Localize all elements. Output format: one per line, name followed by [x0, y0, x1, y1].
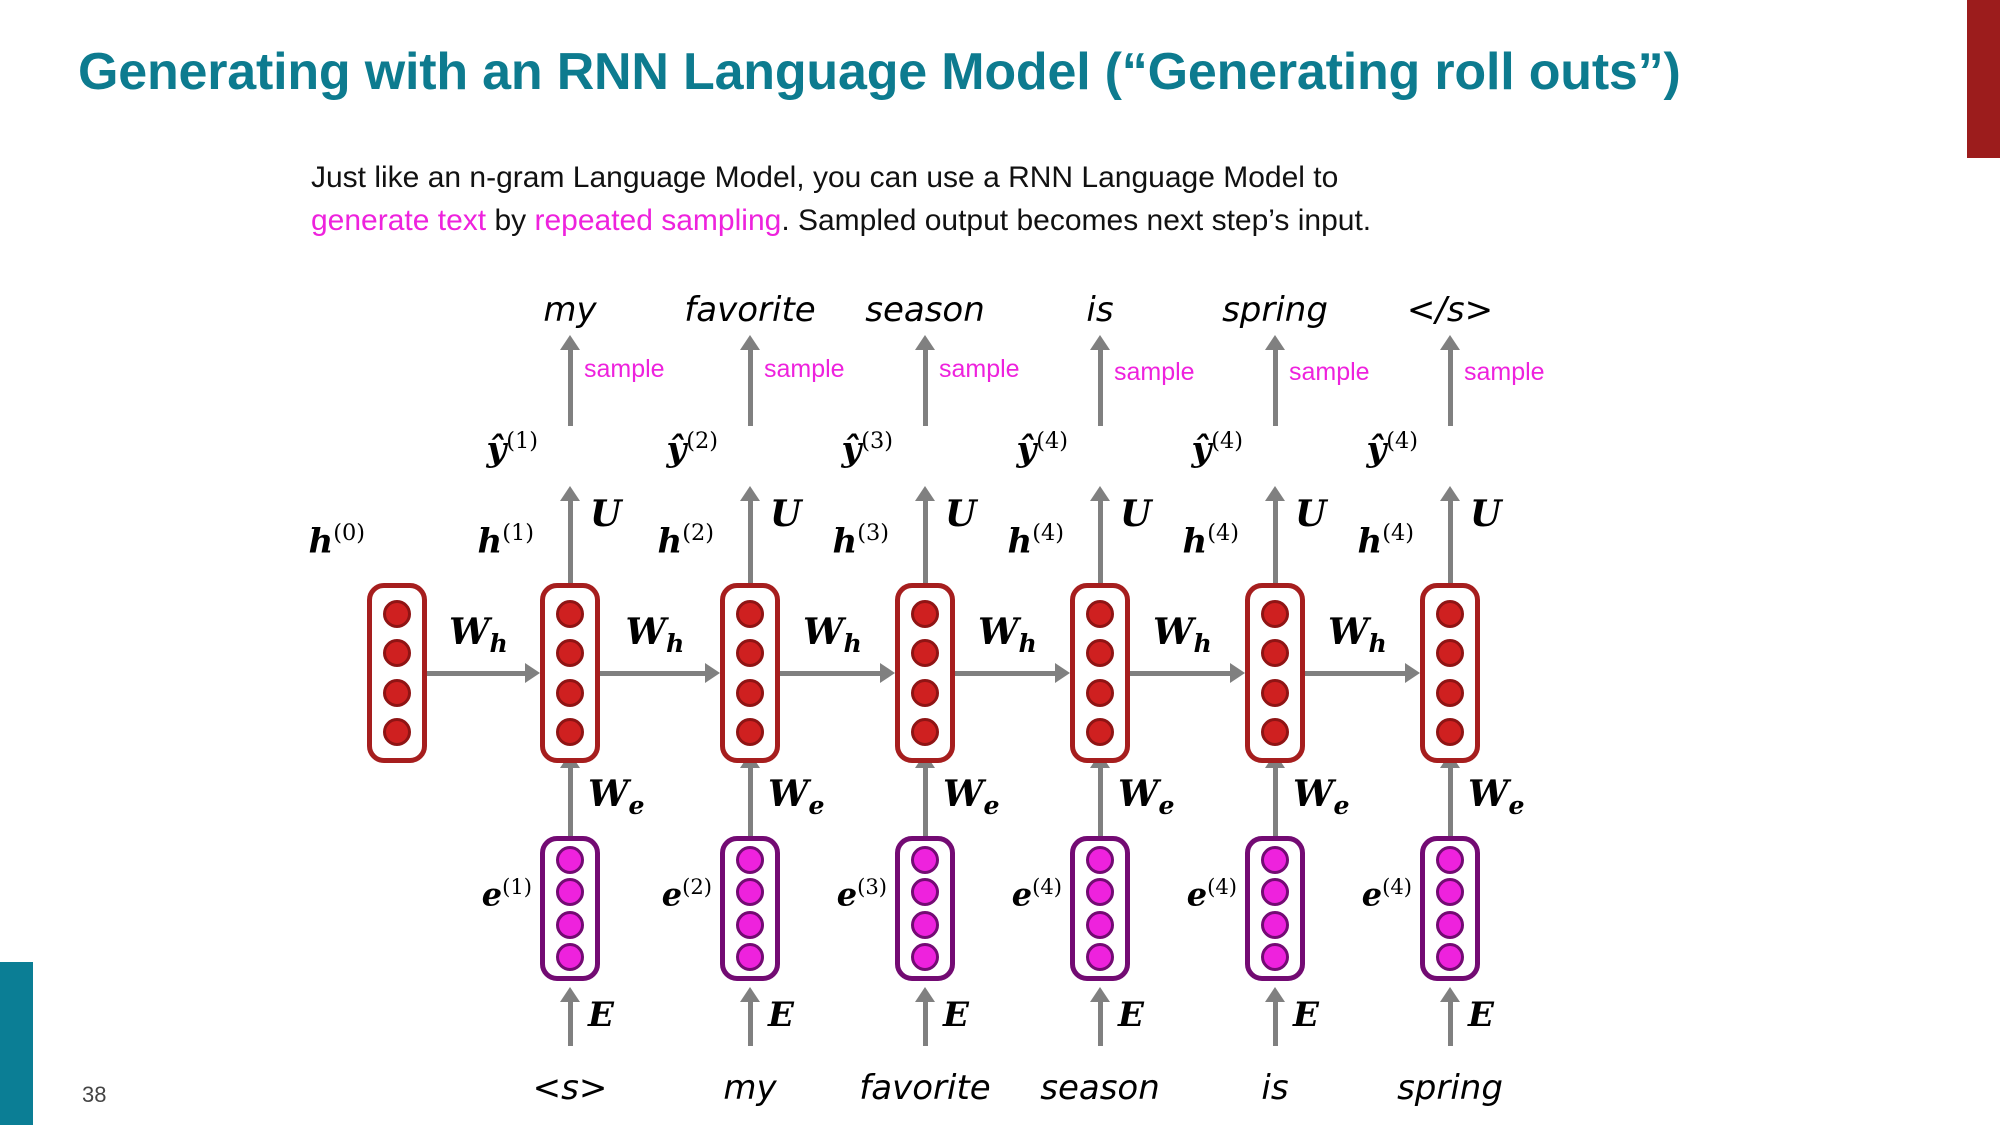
hidden-unit-dot — [736, 639, 764, 667]
embedding-unit-dot — [911, 846, 939, 874]
sample-label-4: sample — [1289, 358, 1370, 387]
hidden-unit-dot — [383, 639, 411, 667]
embedding-unit-dot — [1086, 911, 1114, 939]
recurrent-arrow-0 — [427, 671, 527, 676]
sample-arrow-0 — [568, 348, 573, 426]
embedding-unit-dot — [1261, 911, 1289, 939]
embedding-vector-1 — [720, 836, 780, 981]
embedding-weight-label-5: We — [1468, 773, 1524, 820]
hidden-unit-dot — [1436, 639, 1464, 667]
hidden-state-vector-3 — [895, 583, 955, 763]
recurrent-weight-label-1: Wh — [626, 611, 685, 658]
hidden-state-vector-5 — [1245, 583, 1305, 763]
sample-arrow-3 — [1098, 348, 1103, 426]
hidden-unit-dot — [383, 718, 411, 746]
sample-arrow-4 — [1273, 348, 1278, 426]
hidden-top-connector-1 — [748, 561, 753, 583]
embedding-unit-dot — [1261, 846, 1289, 874]
embedding-vector-3 — [1070, 836, 1130, 981]
hidden-unit-dot — [911, 718, 939, 746]
embedding-unit-dot — [911, 878, 939, 906]
input-word-1: my — [723, 1068, 776, 1108]
output-distribution-label-0: ŷ(1) — [486, 428, 538, 469]
embedding-label-2: e(3) — [837, 874, 887, 914]
recurrent-arrow-1 — [600, 671, 707, 676]
hidden-state-vector-1 — [540, 583, 600, 763]
hidden-unit-dot — [1436, 600, 1464, 628]
hidden-state-label-4: h(4) — [1007, 520, 1064, 561]
sampled-word-2: season — [865, 290, 985, 330]
embedding-lookup-arrow-0 — [568, 1000, 573, 1046]
embedding-matrix-label-0: E — [588, 995, 614, 1035]
embedding-weight-label-3: We — [1118, 773, 1174, 820]
hidden-unit-dot — [1261, 639, 1289, 667]
embedding-to-hidden-arrow-0 — [568, 766, 573, 836]
embedding-unit-dot — [736, 878, 764, 906]
hidden-unit-dot — [736, 679, 764, 707]
rnn-rollout-diagram: h(0)WhWhWhWhWhWh<s>Ee(1)Weh(1)Uŷ(1)sampl… — [0, 0, 2000, 1125]
embedding-vector-2 — [895, 836, 955, 981]
embedding-label-4: e(4) — [1187, 874, 1237, 914]
hidden-unit-dot — [1436, 718, 1464, 746]
hidden-unit-dot — [911, 679, 939, 707]
input-word-5: spring — [1397, 1068, 1503, 1108]
embedding-matrix-label-4: E — [1293, 995, 1319, 1035]
embedding-unit-dot — [556, 878, 584, 906]
hidden-state-label-6: h(4) — [1357, 520, 1414, 561]
hidden-unit-dot — [911, 600, 939, 628]
embedding-matrix-label-5: E — [1468, 995, 1494, 1035]
output-matrix-label-1: U — [770, 493, 801, 535]
slide: Generating with an RNN Language Model (“… — [0, 0, 2000, 1125]
hidden-unit-dot — [1086, 718, 1114, 746]
embedding-unit-dot — [1261, 943, 1289, 971]
embedding-to-hidden-arrow-2 — [923, 766, 928, 836]
sample-label-1: sample — [764, 355, 845, 384]
hidden-state-label-5: h(4) — [1182, 520, 1239, 561]
hidden-unit-dot — [556, 718, 584, 746]
sample-label-0: sample — [584, 355, 665, 384]
hidden-state-label-2: h(2) — [657, 520, 714, 561]
hidden-state-vector-0 — [367, 583, 427, 763]
hidden-unit-dot — [1086, 600, 1114, 628]
output-matrix-label-4: U — [1295, 493, 1326, 535]
hidden-unit-dot — [556, 639, 584, 667]
hidden-unit-dot — [1436, 679, 1464, 707]
embedding-unit-dot — [1436, 911, 1464, 939]
embedding-unit-dot — [736, 911, 764, 939]
embedding-unit-dot — [911, 911, 939, 939]
embedding-unit-dot — [1436, 878, 1464, 906]
embedding-unit-dot — [1086, 878, 1114, 906]
sampled-word-3: is — [1086, 290, 1113, 330]
recurrent-arrow-4 — [1130, 671, 1232, 676]
embedding-unit-dot — [556, 911, 584, 939]
hidden-top-connector-5 — [1448, 561, 1453, 583]
output-distribution-label-1: ŷ(2) — [666, 428, 718, 469]
sampled-word-1: favorite — [684, 290, 815, 330]
output-matrix-label-0: U — [590, 493, 621, 535]
embedding-vector-0 — [540, 836, 600, 981]
recurrent-weight-label-4: Wh — [1153, 611, 1212, 658]
hidden-state-vector-6 — [1420, 583, 1480, 763]
recurrent-arrow-2 — [780, 671, 882, 676]
hidden-top-connector-4 — [1273, 561, 1278, 583]
hidden-unit-dot — [1086, 639, 1114, 667]
sample-label-2: sample — [939, 355, 1020, 384]
embedding-lookup-arrow-3 — [1098, 1000, 1103, 1046]
embedding-unit-dot — [556, 846, 584, 874]
embedding-lookup-arrow-2 — [923, 1000, 928, 1046]
hidden-top-connector-3 — [1098, 561, 1103, 583]
hidden-state-vector-4 — [1070, 583, 1130, 763]
hidden-unit-dot — [556, 679, 584, 707]
hidden-state-vector-2 — [720, 583, 780, 763]
embedding-weight-label-4: We — [1293, 773, 1349, 820]
embedding-unit-dot — [736, 943, 764, 971]
embedding-weight-label-1: We — [768, 773, 824, 820]
embedding-unit-dot — [1261, 878, 1289, 906]
hidden-unit-dot — [1261, 718, 1289, 746]
embedding-unit-dot — [736, 846, 764, 874]
sampled-word-5: </s> — [1407, 290, 1493, 330]
embedding-weight-label-0: We — [588, 773, 644, 820]
output-distribution-label-5: ŷ(4) — [1366, 428, 1418, 469]
input-word-4: is — [1261, 1068, 1288, 1108]
embedding-to-hidden-arrow-1 — [748, 766, 753, 836]
embedding-to-hidden-arrow-4 — [1273, 766, 1278, 836]
hidden-unit-dot — [556, 600, 584, 628]
hidden-unit-dot — [383, 600, 411, 628]
recurrent-weight-label-5: Wh — [1328, 611, 1387, 658]
embedding-label-3: e(4) — [1012, 874, 1062, 914]
sample-label-5: sample — [1464, 358, 1545, 387]
sample-label-3: sample — [1114, 358, 1195, 387]
embedding-label-5: e(4) — [1362, 874, 1412, 914]
output-matrix-label-3: U — [1120, 493, 1151, 535]
embedding-lookup-arrow-4 — [1273, 1000, 1278, 1046]
hidden-unit-dot — [736, 600, 764, 628]
embedding-unit-dot — [1436, 943, 1464, 971]
embedding-label-0: e(1) — [482, 874, 532, 914]
sample-arrow-5 — [1448, 348, 1453, 426]
embedding-unit-dot — [1086, 846, 1114, 874]
output-matrix-label-5: U — [1470, 493, 1501, 535]
input-word-3: season — [1040, 1068, 1160, 1108]
hidden-top-connector-0 — [568, 561, 573, 583]
sample-arrow-2 — [923, 348, 928, 426]
recurrent-arrow-5 — [1305, 671, 1407, 676]
output-distribution-label-3: ŷ(4) — [1016, 428, 1068, 469]
output-distribution-label-4: ŷ(4) — [1191, 428, 1243, 469]
output-matrix-label-2: U — [945, 493, 976, 535]
recurrent-arrow-3 — [955, 671, 1057, 676]
embedding-unit-dot — [556, 943, 584, 971]
embedding-lookup-arrow-1 — [748, 1000, 753, 1046]
sampled-word-4: spring — [1222, 290, 1328, 330]
embedding-matrix-label-3: E — [1118, 995, 1144, 1035]
recurrent-weight-label-3: Wh — [978, 611, 1037, 658]
hidden-unit-dot — [1261, 600, 1289, 628]
hidden-unit-dot — [1261, 679, 1289, 707]
embedding-vector-4 — [1245, 836, 1305, 981]
hidden-state-label-1: h(1) — [477, 520, 534, 561]
output-distribution-label-2: ŷ(3) — [841, 428, 893, 469]
embedding-to-hidden-arrow-3 — [1098, 766, 1103, 836]
recurrent-weight-label-0: Wh — [449, 611, 508, 658]
hidden-top-connector-2 — [923, 561, 928, 583]
sampled-word-0: my — [543, 290, 596, 330]
embedding-label-1: e(2) — [662, 874, 712, 914]
recurrent-weight-label-2: Wh — [803, 611, 862, 658]
embedding-unit-dot — [1436, 846, 1464, 874]
hidden-state-label-3: h(3) — [832, 520, 889, 561]
embedding-to-hidden-arrow-5 — [1448, 766, 1453, 836]
hidden-unit-dot — [383, 679, 411, 707]
input-word-0: <s> — [533, 1068, 608, 1108]
hidden-unit-dot — [911, 639, 939, 667]
embedding-vector-5 — [1420, 836, 1480, 981]
embedding-weight-label-2: We — [943, 773, 999, 820]
sample-arrow-1 — [748, 348, 753, 426]
embedding-matrix-label-2: E — [943, 995, 969, 1035]
embedding-unit-dot — [1086, 943, 1114, 971]
hidden-state-label-0: h(0) — [308, 520, 365, 561]
input-word-2: favorite — [859, 1068, 990, 1108]
embedding-lookup-arrow-5 — [1448, 1000, 1453, 1046]
hidden-unit-dot — [736, 718, 764, 746]
hidden-unit-dot — [1086, 679, 1114, 707]
embedding-unit-dot — [911, 943, 939, 971]
embedding-matrix-label-1: E — [768, 995, 794, 1035]
